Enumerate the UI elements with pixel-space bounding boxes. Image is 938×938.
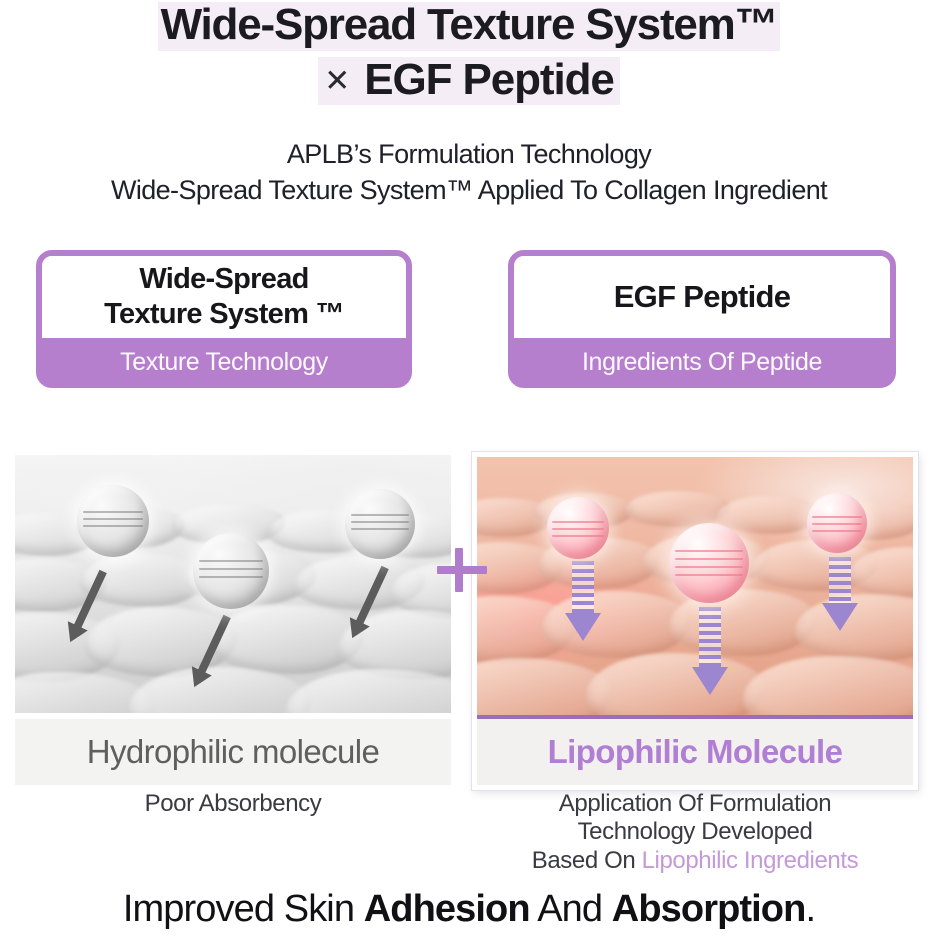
- headline-block: Wide-Spread Texture System™ ✕ EGF Peptid…: [0, 2, 938, 105]
- footer-part-4-bold: Absorption: [612, 888, 806, 930]
- footer-part-3: And: [530, 888, 612, 930]
- absorb-arrow-right: [822, 603, 858, 631]
- panel-hydrophilic-inner: Hydrophilic molecule: [15, 455, 451, 785]
- plus-icon: [434, 542, 490, 598]
- hydrophilic-molecule-illustration: [15, 455, 451, 713]
- card-texture-technology-footer: Texture Technology: [36, 336, 412, 388]
- footer-headline: Improved Skin Adhesion And Absorption.: [0, 888, 938, 931]
- panel-lipophilic: Lipophilic Molecule: [472, 452, 918, 790]
- card-texture-technology: Wide-Spread Texture System ™ Texture Tec…: [36, 250, 412, 388]
- description-hydrophilic-text: Poor Absorbency: [145, 790, 322, 817]
- card-egf-peptide-body: EGF Peptide: [514, 256, 890, 338]
- description-lipophilic-line-3-accent: Lipophilic Ingredients: [642, 847, 859, 874]
- subheadline-block: APLB’s Formulation Technology Wide-Sprea…: [0, 136, 938, 208]
- card-left-footer-label: Texture Technology: [120, 348, 328, 377]
- multiply-icon: ✕: [324, 65, 350, 98]
- card-egf-peptide-title: EGF Peptide: [614, 278, 791, 316]
- lipophilic-molecule-1: [547, 497, 609, 559]
- caption-lipophilic: Lipophilic Molecule: [477, 715, 913, 785]
- headline-text-primary: Wide-Spread Texture System™: [158, 2, 781, 51]
- description-lipophilic-line-2: Technology Developed: [578, 818, 813, 845]
- card-texture-technology-title: Wide-Spread Texture System ™: [104, 262, 344, 333]
- subheadline-line-1: APLB’s Formulation Technology: [0, 136, 938, 172]
- headline-line-2: ✕ EGF Peptide: [0, 57, 938, 106]
- caption-hydrophilic: Hydrophilic molecule: [15, 719, 451, 785]
- absorb-arrow-left: [565, 613, 601, 641]
- feature-cards-row: Wide-Spread Texture System ™ Texture Tec…: [0, 250, 938, 432]
- card-left-title-line-2: Texture System ™: [104, 298, 344, 330]
- lipophilic-molecule-illustration: [477, 457, 913, 715]
- caption-hydrophilic-label: Hydrophilic molecule: [87, 733, 379, 771]
- card-right-footer-label: Ingredients Of Peptide: [582, 348, 822, 377]
- headline-highlight-2: ✕ EGF Peptide: [318, 57, 619, 106]
- card-left-title-line-1: Wide-Spread: [139, 263, 308, 295]
- footer-part-2-bold: Adhesion: [364, 888, 530, 930]
- description-lipophilic-line-1: Application Of Formulation: [559, 790, 831, 817]
- footer-part-5: .: [805, 888, 815, 930]
- footer-part-1: Improved Skin: [123, 888, 364, 930]
- panel-lipophilic-inner: Lipophilic Molecule: [472, 452, 918, 790]
- subheadline-line-2: Wide-Spread Texture System™ Applied To C…: [0, 172, 938, 208]
- headline-line-1: Wide-Spread Texture System™: [0, 2, 938, 51]
- description-lipophilic-line-3-prefix: Based On: [532, 847, 642, 874]
- panel-hydrophilic: Hydrophilic molecule: [15, 455, 451, 785]
- card-egf-peptide: EGF Peptide Ingredients Of Peptide: [508, 250, 896, 388]
- infographic-page: Wide-Spread Texture System™ ✕ EGF Peptid…: [0, 0, 938, 938]
- card-texture-technology-body: Wide-Spread Texture System ™: [42, 256, 406, 338]
- card-egf-peptide-footer: Ingredients Of Peptide: [508, 336, 896, 388]
- hydrophilic-molecule-1: [77, 485, 149, 557]
- headline-text-secondary: EGF Peptide: [364, 57, 614, 104]
- description-lipophilic: Application Of Formulation Technology De…: [472, 790, 918, 875]
- absorb-arrow-center: [692, 667, 728, 695]
- hydrophilic-molecule-2: [193, 533, 269, 609]
- caption-lipophilic-label: Lipophilic Molecule: [548, 733, 843, 771]
- lipophilic-molecule-2: [669, 523, 749, 603]
- lipophilic-molecule-3: [807, 493, 867, 553]
- hydrophilic-molecule-3: [345, 489, 415, 559]
- description-hydrophilic: Poor Absorbency: [15, 790, 451, 818]
